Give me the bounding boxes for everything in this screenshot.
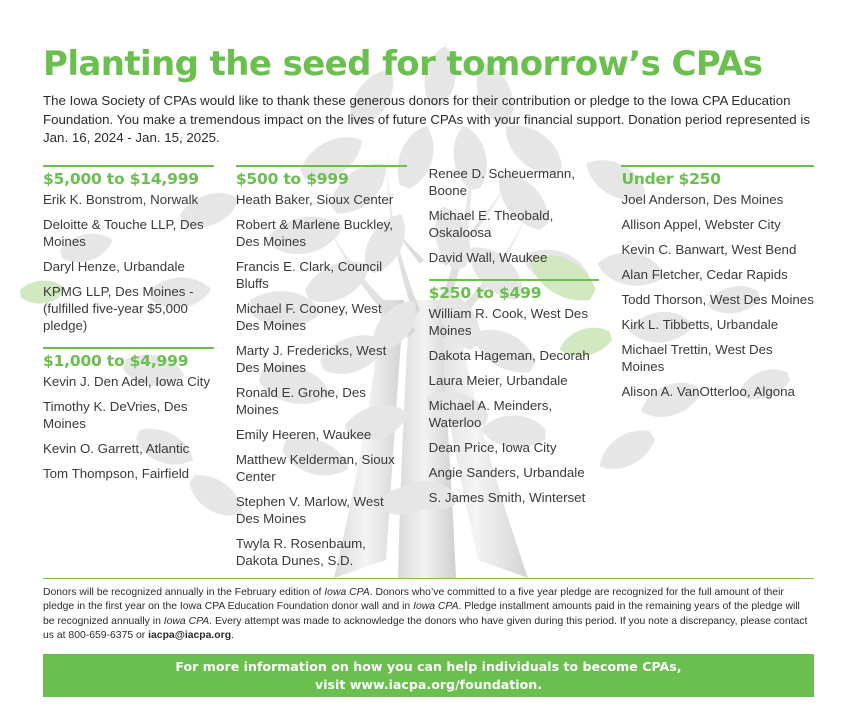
donor-entry: Alison A. VanOtterloo, Algona bbox=[621, 383, 814, 400]
tier-divider-rule bbox=[43, 165, 214, 167]
donor-entry: Kirk L. Tibbetts, Urbandale bbox=[621, 316, 814, 333]
donor-entry: Twyla R. Rosenbaum, Dakota Dunes, S.D. bbox=[236, 535, 407, 569]
tier-title: $1,000 to $4,999 bbox=[43, 353, 214, 371]
donor-column-2: $500 to $999 Heath Baker, Sioux Center R… bbox=[236, 165, 429, 569]
fine-print-disclaimer: Donors will be recognized annually in th… bbox=[43, 586, 814, 643]
donor-entry: Timothy K. DeVries, Des Moines bbox=[43, 398, 214, 432]
donor-entry: Robert & Marlene Buckley, Des Moines bbox=[236, 216, 407, 250]
donor-entry: Joel Anderson, Des Moines bbox=[621, 191, 814, 208]
tier-divider-rule bbox=[43, 347, 214, 349]
cta-line-2: visit www.iacpa.org/foundation. bbox=[315, 676, 542, 694]
fine-print-italic-3: Iowa CPA bbox=[164, 616, 209, 627]
donor-entry: Erik K. Bonstrom, Norwalk bbox=[43, 191, 214, 208]
donor-entry: Marty J. Fredericks, West Des Moines bbox=[236, 342, 407, 376]
donor-entry: Michael Trettin, West Des Moines bbox=[621, 341, 814, 375]
donor-tier: $500 to $999 Heath Baker, Sioux Center R… bbox=[236, 165, 407, 569]
donor-entry: KPMG LLP, Des Moines - (fulfilled five-y… bbox=[43, 283, 214, 334]
donor-entry: Tom Thompson, Fairfield bbox=[43, 465, 214, 482]
donor-columns: $5,000 to $14,999 Erik K. Bonstrom, Norw… bbox=[43, 165, 814, 569]
fine-print-part-5: . bbox=[231, 630, 234, 641]
cta-line-1: For more information on how you can help… bbox=[175, 658, 681, 676]
tier-title: $500 to $999 bbox=[236, 171, 407, 189]
donor-entry: Ronald E. Grohe, Des Moines bbox=[236, 384, 407, 418]
donor-entry: David Wall, Waukee bbox=[429, 249, 600, 266]
tier-divider-rule bbox=[236, 165, 407, 167]
tier-divider-rule bbox=[429, 279, 600, 281]
donor-recognition-page: Planting the seed for tomorrow’s CPAs Th… bbox=[0, 0, 857, 719]
tier-title: $5,000 to $14,999 bbox=[43, 171, 214, 189]
donor-column-3: Renee D. Scheuermann, Boone Michael E. T… bbox=[429, 165, 622, 569]
donor-entry: Michael A. Meinders, Waterloo bbox=[429, 397, 600, 431]
cta-url-link[interactable]: www.iacpa.org/foundation. bbox=[350, 677, 542, 692]
tier-title: $250 to $499 bbox=[429, 285, 600, 303]
donor-tier: Under $250 Joel Anderson, Des Moines All… bbox=[621, 165, 814, 400]
donor-entry: S. James Smith, Winterset bbox=[429, 489, 600, 506]
tier-title: Under $250 bbox=[621, 171, 814, 189]
intro-paragraph: The Iowa Society of CPAs would like to t… bbox=[43, 92, 814, 149]
donor-entry: William R. Cook, West Des Moines bbox=[429, 305, 600, 339]
fine-print-part-1: Donors will be recognized annually in th… bbox=[43, 587, 324, 598]
tier-divider-rule bbox=[621, 165, 814, 167]
donor-entry: Heath Baker, Sioux Center bbox=[236, 191, 407, 208]
donor-entry: Kevin J. Den Adel, Iowa City bbox=[43, 373, 214, 390]
donor-entry: Daryl Henze, Urbandale bbox=[43, 258, 214, 275]
page-footer: Donors will be recognized annually in th… bbox=[0, 578, 857, 697]
page-title: Planting the seed for tomorrow’s CPAs bbox=[43, 0, 814, 83]
donor-entry: Dean Price, Iowa City bbox=[429, 439, 600, 456]
donor-entry: Stephen V. Marlow, West Des Moines bbox=[236, 493, 407, 527]
donor-entry: Kevin O. Garrett, Atlantic bbox=[43, 440, 214, 457]
donor-column-1: $5,000 to $14,999 Erik K. Bonstrom, Norw… bbox=[43, 165, 236, 569]
donor-column-4: Under $250 Joel Anderson, Des Moines All… bbox=[621, 165, 814, 569]
donor-entry: Michael E. Theobald, Oskaloosa bbox=[429, 207, 600, 241]
cta-banner[interactable]: For more information on how you can help… bbox=[43, 654, 814, 697]
donor-entry: Deloitte & Touche LLP, Des Moines bbox=[43, 216, 214, 250]
donor-tier: $250 to $499 William R. Cook, West Des M… bbox=[429, 279, 600, 506]
donor-tier: $5,000 to $14,999 Erik K. Bonstrom, Norw… bbox=[43, 165, 214, 334]
fine-print-italic-2: Iowa CPA bbox=[413, 601, 458, 612]
donor-tier: $1,000 to $4,999 Kevin J. Den Adel, Iowa… bbox=[43, 347, 214, 482]
donor-entry: Laura Meier, Urbandale bbox=[429, 372, 600, 389]
donor-entry: Michael F. Cooney, West Des Moines bbox=[236, 300, 407, 334]
donor-entry: Francis E. Clark, Council Bluffs bbox=[236, 258, 407, 292]
donor-entry: Emily Heeren, Waukee bbox=[236, 426, 407, 443]
page-content: Planting the seed for tomorrow’s CPAs Th… bbox=[0, 0, 857, 569]
donor-entry: Dakota Hageman, Decorah bbox=[429, 347, 600, 364]
donor-entry: Matthew Kelderman, Sioux Center bbox=[236, 451, 407, 485]
contact-email[interactable]: iacpa@iacpa.org bbox=[148, 630, 231, 641]
donor-entry: Kevin C. Banwart, West Bend bbox=[621, 241, 814, 258]
donor-entry: Alan Fletcher, Cedar Rapids bbox=[621, 266, 814, 283]
cta-visit-label: visit bbox=[315, 677, 350, 692]
fine-print-italic-1: Iowa CPA bbox=[324, 587, 369, 598]
donor-tier-continued: Renee D. Scheuermann, Boone Michael E. T… bbox=[429, 165, 600, 266]
donor-entry: Todd Thorson, West Des Moines bbox=[621, 291, 814, 308]
donor-entry: Renee D. Scheuermann, Boone bbox=[429, 165, 600, 199]
footer-divider-rule bbox=[43, 578, 814, 579]
donor-entry: Angie Sanders, Urbandale bbox=[429, 464, 600, 481]
donor-entry: Allison Appel, Webster City bbox=[621, 216, 814, 233]
